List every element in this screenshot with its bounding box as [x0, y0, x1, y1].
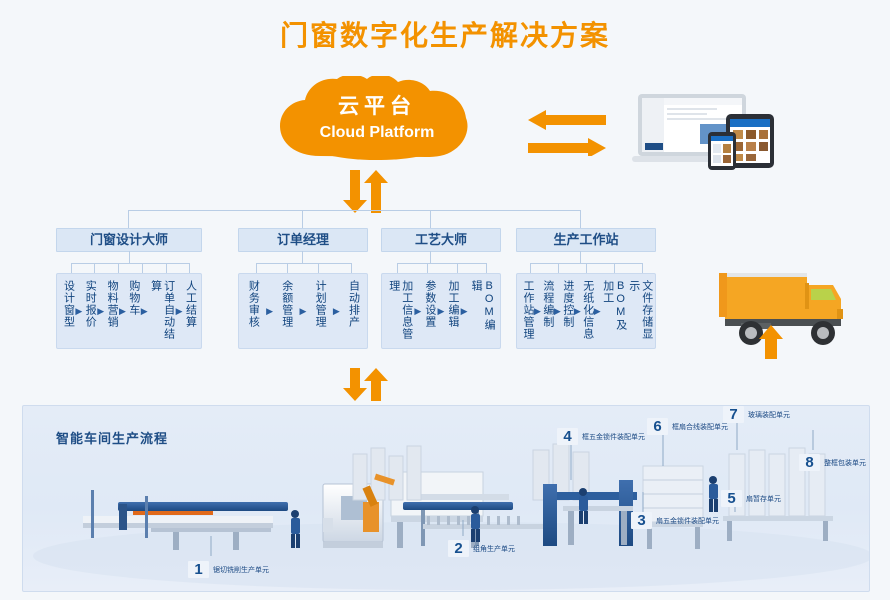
branch-stem-2	[430, 251, 431, 263]
module-item-2-2[interactable]: 加工编辑	[446, 280, 459, 328]
arrow-up-icon	[364, 368, 388, 401]
cloud-platform-node[interactable]: 云平台 Cloud Platform	[272, 76, 482, 164]
unit-label-8: 整框包装单元	[824, 458, 866, 468]
unit-marker-5[interactable]: 5 扇暂存单元	[721, 490, 781, 507]
branch-drop-3-4	[642, 263, 643, 273]
branch-drop-1-0	[256, 263, 257, 273]
sync-arrows-group	[528, 108, 624, 156]
module-group-1[interactable]: 订单经理 财务审核 ▶ 余额管理 ▶ 计划管理 ▶ 自动排产	[238, 228, 368, 252]
chevron-icon: ▶	[75, 306, 82, 317]
unit-number-8: 8	[799, 454, 820, 471]
phone-device	[708, 132, 736, 170]
branch-stem-1	[302, 251, 303, 263]
solution-diagram: 门窗数字化生产解决方案 云平台 Cloud Platform	[0, 0, 890, 600]
unit-label-4: 框五金锁件装配单元	[582, 432, 645, 442]
chevron-icon: ▶	[438, 306, 445, 317]
chevron-icon: ▶	[97, 306, 104, 317]
delivery-truck-illustration	[705, 255, 870, 360]
unit-label-5: 扇暂存单元	[746, 494, 781, 504]
module-item-3-2[interactable]: 进度控制	[561, 280, 574, 328]
chevron-icon: ▶	[574, 306, 581, 317]
tree-stem-2	[302, 210, 303, 228]
module-item-0-4[interactable]: 订单自动结算	[149, 280, 175, 342]
branch-drop-2-2	[457, 263, 458, 273]
cloud-label-group: 云平台 Cloud Platform	[272, 94, 482, 144]
module-item-0-1[interactable]: 实时报价	[83, 280, 96, 328]
module-item-1-0[interactable]: 财务审核	[246, 280, 259, 328]
module-item-1-3[interactable]: 自动排产	[347, 280, 360, 328]
devices-mockup	[630, 88, 805, 170]
branch-drop-2-3	[486, 263, 487, 273]
branch-drop-0-5	[189, 263, 190, 273]
branch-drop-1-1	[287, 263, 288, 273]
branch-drop-3-3	[614, 263, 615, 273]
branch-drop-1-3	[351, 263, 352, 273]
unit-number-5: 5	[721, 490, 742, 507]
branch-stem-0	[129, 251, 130, 263]
unit-number-1: 1	[188, 561, 209, 578]
unit-marker-8[interactable]: 8 整框包装单元	[799, 454, 866, 471]
branch-drop-2-1	[427, 263, 428, 273]
module-title-1[interactable]: 订单经理	[238, 228, 368, 252]
branch-stem-3	[580, 251, 581, 263]
module-items-2: 加工信息管理 ▶ 参数设置 ▶ 加工编辑 ▶ BOM编辑	[381, 273, 501, 349]
chevron-icon: ▶	[461, 306, 468, 317]
module-title-0[interactable]: 门窗设计大师	[56, 228, 202, 252]
tree-stem-3	[430, 210, 431, 228]
chevron-icon: ▶	[333, 306, 340, 317]
tree-stem-4	[580, 210, 581, 228]
chevron-icon: ▶	[176, 306, 183, 317]
unit-number-2: 2	[448, 540, 469, 557]
unit-number-3: 3	[631, 512, 652, 529]
module-item-3-0[interactable]: 工作站管理	[521, 280, 534, 340]
branch-drop-1-2	[318, 263, 319, 273]
branch-drop-0-1	[94, 263, 95, 273]
unit-number-7: 7	[723, 406, 744, 423]
factory-link-arrows	[338, 368, 390, 402]
module-items-3: 工作站管理 ▶ 流程编制 ▶ 进度控制 ▶ 无纸化信息 ▶ BOM及加工 文件存…	[516, 273, 656, 349]
chevron-icon: ▶	[299, 306, 306, 317]
branch-drop-3-2	[586, 263, 587, 273]
arrow-down-icon	[343, 368, 367, 401]
chevron-icon: ▶	[119, 306, 126, 317]
chevron-icon: ▶	[554, 306, 561, 317]
cloud-label-cn: 云平台	[272, 94, 482, 120]
chevron-icon: ▶	[534, 306, 541, 317]
module-item-2-1[interactable]: 参数设置	[423, 280, 436, 328]
unit-label-1: 锯切铣削生产单元	[213, 565, 269, 575]
unit-label-3: 扇五金锁件装配单元	[656, 516, 719, 526]
unit-number-4: 4	[557, 428, 578, 445]
chevron-icon: ▶	[141, 306, 148, 317]
module-item-1-1[interactable]: 余额管理	[280, 280, 293, 328]
module-item-0-2[interactable]: 物料营销	[105, 280, 118, 328]
module-item-0-5[interactable]: 人工结算	[183, 280, 196, 328]
module-item-0-0[interactable]: 设计窗型	[61, 280, 74, 328]
unit-number-6: 6	[647, 418, 668, 435]
branch-drop-0-0	[71, 263, 72, 273]
arrow-left-icon	[528, 110, 606, 130]
module-items-1: 财务审核 ▶ 余额管理 ▶ 计划管理 ▶ 自动排产	[238, 273, 368, 349]
truck-icon	[719, 273, 843, 345]
branch-bus-1	[256, 263, 352, 264]
chevron-icon: ▶	[594, 306, 601, 317]
module-item-1-2[interactable]: 计划管理	[313, 280, 326, 328]
chevron-icon: ▶	[266, 306, 273, 317]
module-item-3-3[interactable]: 无纸化信息	[581, 280, 594, 340]
smart-workshop-panel: 智能车间生产流程	[22, 405, 870, 592]
tree-stem-1	[128, 210, 129, 228]
module-item-0-3[interactable]: 购物车	[127, 280, 140, 316]
branch-drop-0-4	[166, 263, 167, 273]
branch-bus-2	[397, 263, 487, 264]
module-item-2-0[interactable]: 加工信息管理	[387, 280, 413, 342]
unit-label-7: 玻璃装配单元	[748, 410, 790, 420]
arrow-right-icon	[528, 138, 606, 156]
tree-bus-line	[128, 210, 580, 211]
unit-marker-7[interactable]: 7 玻璃装配单元	[723, 406, 790, 423]
unit-marker-4[interactable]: 4 框五金锁件装配单元	[557, 428, 645, 445]
unit-marker-1[interactable]: 1 锯切铣削生产单元	[188, 561, 269, 578]
branch-drop-2-0	[397, 263, 398, 273]
unit-marker-3[interactable]: 3 扇五金锁件装配单元	[631, 512, 719, 529]
chevron-icon: ▶	[414, 306, 421, 317]
unit-label-6: 框扇合线装配单元	[672, 422, 728, 432]
page-title: 门窗数字化生产解决方案	[0, 14, 890, 54]
module-items-0: 设计窗型 ▶ 实时报价 ▶ 物料营销 ▶ 购物车 ▶ 订单自动结算 ▶ 人工结算	[56, 273, 202, 349]
branch-bus-0	[71, 263, 189, 264]
unit-marker-6[interactable]: 6 框扇合线装配单元	[647, 418, 728, 435]
branch-drop-0-2	[118, 263, 119, 273]
branch-drop-3-1	[558, 263, 559, 273]
module-item-3-1[interactable]: 流程编制	[541, 280, 554, 328]
module-group-3[interactable]: 生产工作站 工作站管理 ▶ 流程编制 ▶ 进度控制 ▶ 无纸化信息 ▶ BOM及…	[516, 228, 656, 252]
branch-drop-0-3	[142, 263, 143, 273]
module-item-3-5[interactable]: 文件存储显示	[627, 280, 653, 342]
module-group-0[interactable]: 门窗设计大师 设计窗型 ▶ 实时报价 ▶ 物料营销 ▶ 购物车 ▶ 订单自动结算…	[56, 228, 202, 252]
module-title-2[interactable]: 工艺大师	[381, 228, 501, 252]
cloud-label-en: Cloud Platform	[272, 122, 482, 144]
unit-label-2: 组角生产单元	[473, 544, 515, 554]
module-item-3-4[interactable]: BOM及加工	[601, 280, 627, 342]
module-group-2[interactable]: 工艺大师 加工信息管理 ▶ 参数设置 ▶ 加工编辑 ▶ BOM编辑	[381, 228, 501, 252]
branch-drop-3-0	[530, 263, 531, 273]
unit-marker-2[interactable]: 2 组角生产单元	[448, 540, 515, 557]
module-title-3[interactable]: 生产工作站	[516, 228, 656, 252]
module-item-2-3[interactable]: BOM编辑	[469, 280, 495, 342]
